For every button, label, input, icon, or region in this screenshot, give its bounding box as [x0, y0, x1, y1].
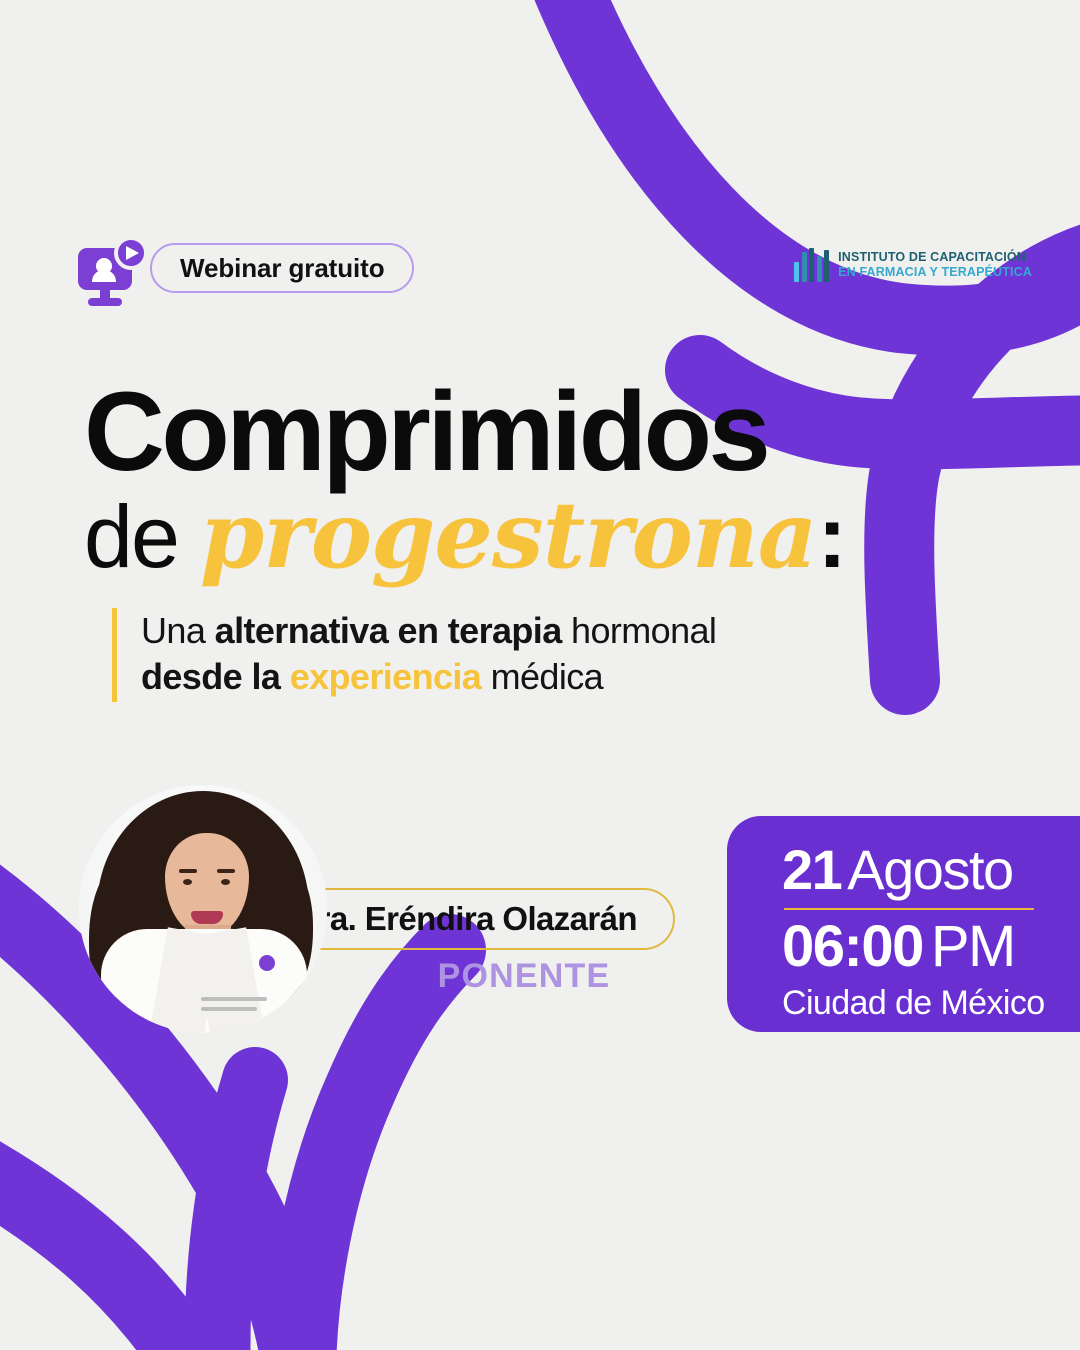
brand-logo: INSTITUTO DE CAPACITACIÓN EN FARMACIA Y …: [794, 248, 1032, 282]
subtitle-2b: experiencia: [290, 656, 482, 697]
speaker-name: Dra. Eréndira Olazarán: [294, 900, 637, 938]
subtitle-line-2: desde la experiencia médica: [141, 654, 716, 700]
subtitle-2c: médica: [481, 656, 603, 697]
subtitle-2a: desde la: [141, 656, 290, 697]
subtitle-line-1: Una alternativa en terapia hormonal: [141, 608, 716, 654]
subtitle-accent-bar: [112, 608, 117, 702]
event-meridiem: PM: [931, 914, 1015, 979]
page-title: Comprimidos de progestrona :: [84, 378, 864, 580]
headline-line-2: de progestrona :: [84, 490, 864, 580]
webinar-badge[interactable]: Webinar gratuito: [150, 243, 414, 293]
webinar-monitor-play-icon: [74, 236, 152, 314]
event-month: Agosto: [847, 838, 1012, 901]
bar-chart-logo-icon: [794, 248, 829, 282]
event-date-row: 21Agosto: [782, 842, 1080, 898]
brand-line-2: EN FARMACIA Y TERAPÉUTICA: [838, 265, 1032, 280]
webinar-badge-label: Webinar gratuito: [180, 253, 384, 284]
headline-line-1: Comprimidos: [84, 378, 864, 486]
event-details-card: 21Agosto 06:00PM Ciudad de México: [727, 816, 1080, 1032]
event-location: Ciudad de México: [782, 984, 1080, 1023]
headline-prefix: de: [84, 494, 178, 580]
event-time-row: 06:00PM: [782, 918, 1080, 976]
subtitle-1b: alternativa en terapia: [215, 610, 562, 651]
event-day: 21: [782, 838, 841, 901]
event-time: 06:00: [782, 914, 923, 979]
speaker-role: PONENTE: [342, 957, 706, 996]
headline-emphasis: progestrona: [200, 490, 817, 580]
subtitle-block: Una alternativa en terapia hormonal desd…: [112, 608, 716, 702]
subtitle-1a: Una: [141, 610, 215, 651]
subtitle-1c: hormonal: [562, 610, 717, 651]
event-card-divider: [784, 908, 1034, 910]
poster-header: Webinar gratuito INSTITUTO DE CAPACITACI…: [0, 232, 1080, 322]
webinar-poster: Webinar gratuito INSTITUTO DE CAPACITACI…: [0, 0, 1080, 1350]
avatar: [79, 785, 327, 1033]
ribbon-bottom-left-3: [0, 1160, 200, 1350]
ribbon-bottom-left-4: [217, 1080, 255, 1350]
headline-colon: :: [818, 494, 847, 580]
brand-line-1: INSTITUTO DE CAPACITACIÓN: [838, 250, 1032, 265]
